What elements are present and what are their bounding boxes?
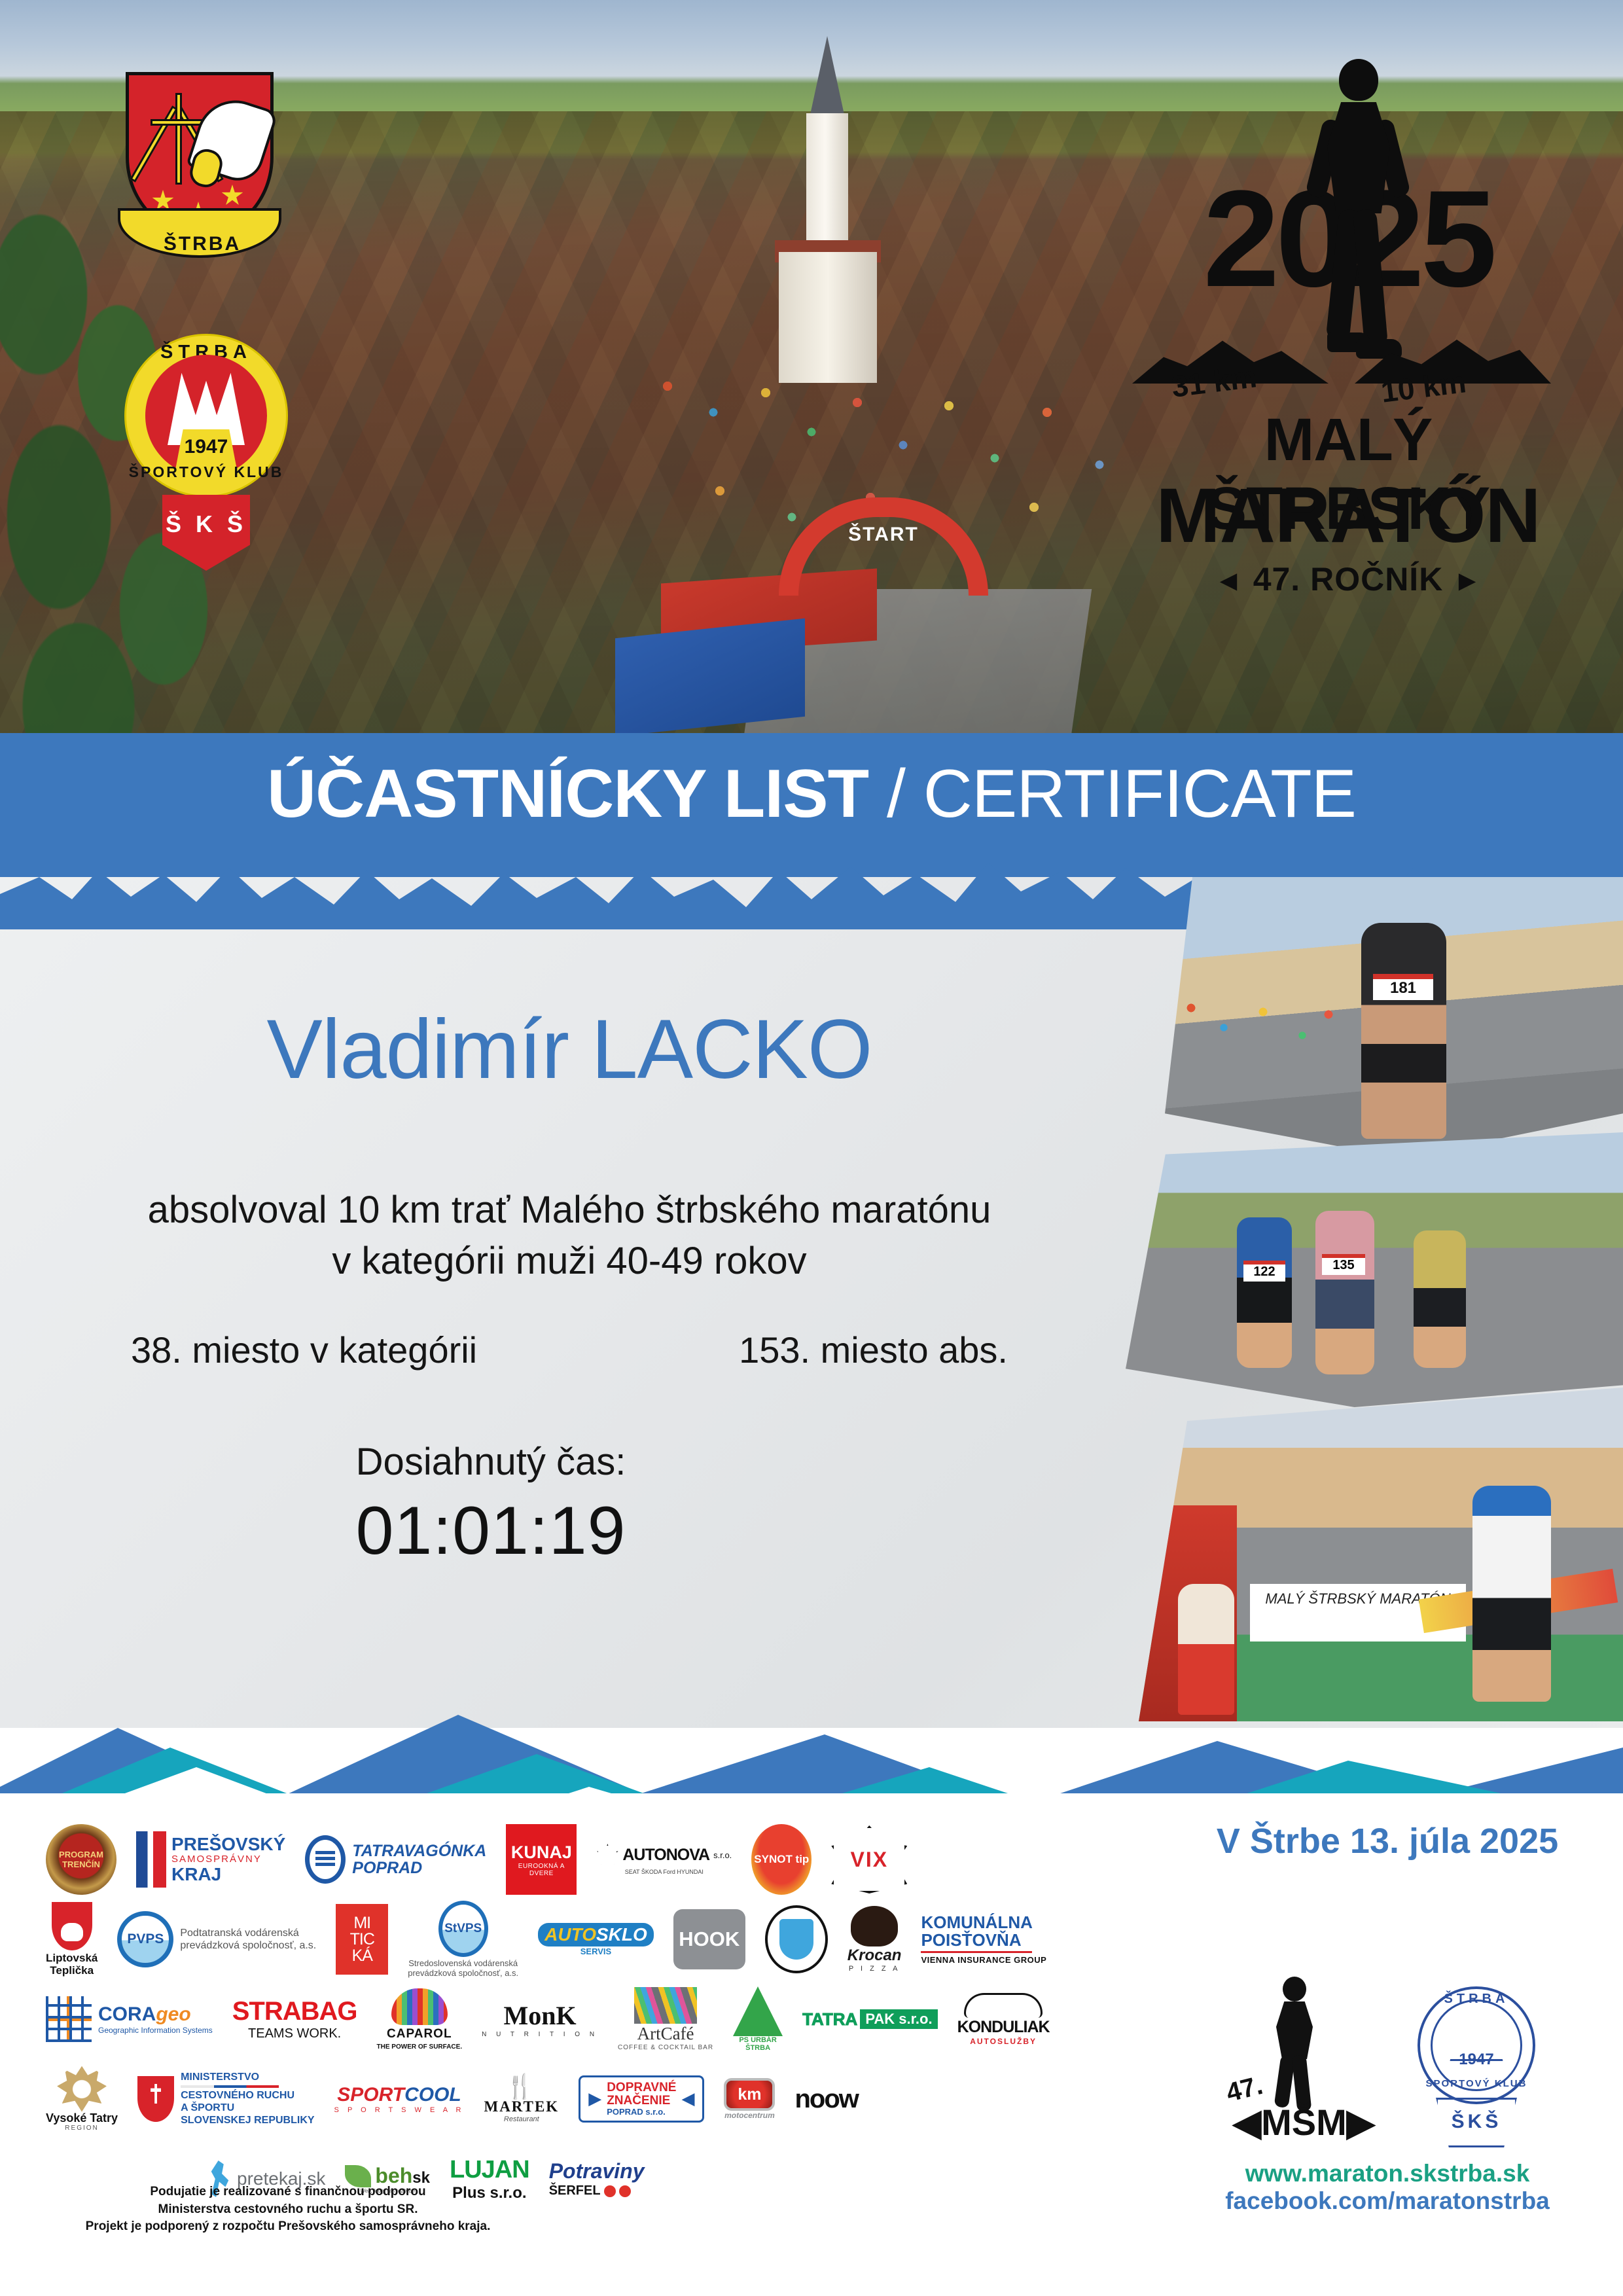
sponsor-label: POPRAD s.r.o. — [607, 2108, 676, 2117]
sponsor-row-1: PROGRAM TRENČÍN PREŠOVSKÝ SAMOSPRÁVNY KR… — [46, 1820, 1152, 1899]
sponsor-label: ArtCafé — [637, 2024, 694, 2044]
sponsor-label: prevádzková spoločnosť, a.s. — [180, 1939, 316, 1952]
sponsor-label: MonK — [504, 2000, 577, 2031]
stamp-bottom-label: ŠPORTOVÝ KLUB — [1418, 2078, 1535, 2089]
sponsor-label: VIX — [831, 1825, 907, 1893]
strba-coat-of-arms: ŠTRBA — [118, 72, 281, 268]
sponsor-label: AUTONOVA — [622, 1846, 709, 1865]
sponsor-label: THE POWER OF SURFACE. — [377, 2043, 463, 2051]
water-drop-icon — [779, 1919, 813, 1960]
arrow-right-icon: ► — [1453, 565, 1482, 597]
sponsor-label: MINISTERSTVO — [181, 2072, 314, 2084]
sponsor-label: PAK s.r.o. — [860, 2009, 937, 2029]
sponsor-label: N U T R I T I O N — [482, 2031, 598, 2038]
sponsor-label: DOPRAVNÉ — [607, 2081, 676, 2094]
bib-number: 135 — [1322, 1258, 1365, 1273]
sponsor-label: Potraviny — [549, 2159, 645, 2183]
arrow-right-icon: ▶ — [588, 2089, 601, 2109]
turkey-icon — [851, 1906, 898, 1946]
start-label: ŠTART — [808, 524, 959, 546]
sponsor-label: SKLO — [596, 1924, 647, 1945]
sponsor-label: SAMOSPRÁVNY — [171, 1854, 285, 1865]
star-burst-icon — [596, 1844, 618, 1866]
place-absolute: 153. miesto abs. — [739, 1329, 1008, 1371]
sponsor-row-3: CORAgeo Geographic Information Systems S… — [46, 1979, 1152, 2059]
sponsor-artcafe: ArtCafé COFFEE & COCKTAIL BAR — [618, 1983, 713, 2055]
photo-runners-road: 122 135 — [1126, 1132, 1623, 1407]
race-edition: ◄ 47. ROČNÍK ► — [1119, 560, 1577, 598]
sks-official-stamp: ŠTRBA 1947 ŠPORTOVÝ KLUB ŠKŠ — [1400, 1973, 1551, 2150]
sponsor-label: Vysoké Tatry — [46, 2112, 118, 2125]
sponsor-label: A ŠPORTU — [181, 2102, 314, 2115]
photo-finisher: 181 — [1165, 877, 1623, 1158]
marathon-logo: 2025 31 km 10 km MALÝ ŠTRBSKÝ MARATÓN ◄ … — [1119, 39, 1577, 615]
elephant-icon — [391, 1988, 448, 2025]
slovak-coat-of-arms-icon — [137, 2076, 174, 2122]
sponsor-label: TEAMS WORK. — [248, 2026, 341, 2041]
cutlery-icon: 🍴 — [505, 2075, 537, 2098]
sponsor-label: STRABAG — [232, 1997, 357, 2026]
web-links: www.maraton.skstrba.sk facebook.com/mara… — [1178, 2160, 1597, 2215]
sponsor-label: S P O R T S W E A R — [334, 2106, 465, 2114]
sponsor-label: PREŠOVSKÝ — [171, 1835, 285, 1854]
sponsor-caparol: CAPAROL THE POWER OF SURFACE. — [377, 1983, 463, 2055]
dot-icon — [604, 2185, 616, 2197]
sponsor-label: AUTO — [544, 1924, 596, 1945]
sponsor-autosklo: AUTOSKLO SERVIS — [538, 1903, 654, 1975]
sponsor-ministerstvo: MINISTERSTVO CESTOVNÉHO RUCHU A ŠPORTU S… — [137, 2063, 314, 2135]
facebook-link[interactable]: facebook.com/maratonstrba — [1178, 2187, 1597, 2215]
sponsor-label: MARTEK — [484, 2098, 559, 2115]
club-year: 1947 — [145, 436, 267, 458]
sponsor-label: REGION — [65, 2125, 98, 2132]
sponsor-label: AUTOSLUŽBY — [970, 2037, 1037, 2046]
sponsor-grid: PROGRAM TRENČÍN PREŠOVSKÝ SAMOSPRÁVNY KR… — [46, 1820, 1152, 2225]
sponsor-synottip: SYNOT tip — [751, 1823, 811, 1895]
participant-description: absolvoval 10 km trať Malého štrbského m… — [0, 1185, 1139, 1287]
sponsor-label: geo — [156, 2003, 190, 2025]
sponsor-label: HOOK — [673, 1909, 745, 1969]
club-bottom-label: ŠPORTOVÝ KLUB — [124, 463, 288, 481]
sponsor-corageo: CORAgeo Geographic Information Systems — [46, 1983, 213, 2055]
grid-icon — [46, 1996, 92, 2042]
sponsor-label: Geographic Information Systems — [98, 2026, 213, 2035]
dot-icon — [619, 2185, 631, 2197]
tatravagonka-icon — [305, 1835, 346, 1884]
sponsor-label: CAPAROL — [387, 2027, 452, 2041]
coat-of-arms-icon — [52, 1902, 92, 1950]
bib-number: 181 — [1373, 979, 1433, 997]
banner-title-en: CERTIFICATE — [923, 756, 1356, 832]
sponsor-label: CORA — [98, 2003, 156, 2025]
car-icon — [964, 1993, 1043, 2018]
stamp-row: 47. ◀MŠM▶ ŠTRBA 1947 ŠPORTOVÝ KLUB ŠKŠ — [1178, 1964, 1597, 2160]
footer-right: V Štrbe 13. júla 2025 47. ◀MŠM▶ ŠTRBA 19… — [1178, 1813, 1597, 2245]
race-edition-label: 47. ROČNÍK — [1253, 561, 1444, 598]
footer: PROGRAM TRENČÍN PREŠOVSKÝ SAMOSPRÁVNY KR… — [0, 1793, 1623, 2296]
stamp-top-label: ŠTRBA — [1418, 1992, 1535, 2007]
sponsor-label: POPRAD — [352, 1859, 486, 1876]
description-line1: absolvoval 10 km trať Malého štrbského m… — [0, 1185, 1139, 1236]
stamp-abbr: ŠKŠ — [1436, 2111, 1517, 2133]
distance-row: 31 km 10 km — [1119, 327, 1577, 399]
sponsor-label: EUROOKNÁ A DVERE — [506, 1863, 577, 1877]
photo-collage: 181 122 135 MALÝ ŠTRBSKÝ MARATÓN — [1126, 877, 1623, 1721]
sponsor-label: TATRAVAGÓNKA — [352, 1842, 486, 1859]
sponsor-krocan-pizza: Krocan P I Z Z A — [847, 1903, 902, 1975]
sponsor-label: KUNAJ — [511, 1842, 572, 1863]
sponsor-label: ZNAČENIE — [607, 2094, 676, 2108]
sponsor-label: km — [724, 2078, 775, 2111]
blue-tent — [615, 619, 805, 736]
sks-club-logo: ŠTRBA 1947 ŠPORTOVÝ KLUB Š K Š — [111, 308, 301, 583]
funding-disclaimer: Podujatie je realizované s finančnou pod… — [39, 2183, 537, 2236]
sponsor-label: CESTOVNÉHO RUCHU — [181, 2090, 314, 2102]
sponsor-label: StVPS — [438, 1901, 488, 1957]
sponsor-label: KÁ — [352, 1948, 372, 1964]
description-line2: v kategórii muži 40-49 rokov — [0, 1236, 1139, 1287]
sponsor-liptovska-teplicka: Liptovská Teplička — [46, 1903, 98, 1975]
arrow-left-icon: ◀ — [681, 2089, 694, 2109]
sponsor-label: COOL — [404, 2084, 461, 2106]
sponsor-label: motocentrum — [724, 2111, 775, 2120]
sponsor-label: TRENČÍN — [62, 1859, 100, 1869]
sponsor-label: noow — [794, 2085, 857, 2114]
sponsor-label: ŠERFEL — [549, 2183, 601, 2198]
sponsor-martek: 🍴 MARTEK Restaurant — [484, 2063, 559, 2135]
sponsor-label: Liptovská — [46, 1952, 98, 1965]
banner-title-sep: / — [868, 756, 923, 832]
runner-icon — [1315, 59, 1400, 360]
flag-icon — [136, 1831, 166, 1888]
photo-finish-line: MALÝ ŠTRBSKÝ MARATÓN — [1139, 1388, 1623, 1721]
sponsor-label: TATRA — [802, 2009, 857, 2030]
sponsor-pvps: PVPS Podtatranská vodárenská prevádzková… — [117, 1903, 316, 1975]
sponsor-label: SYNOT tip — [751, 1824, 811, 1895]
disclaimer-line3: Projekt je podporený z rozpočtu Prešovsk… — [39, 2218, 537, 2236]
time-value: 01:01:19 — [0, 1492, 982, 1570]
msm-logo: 47. ◀MŠM▶ — [1224, 1977, 1355, 2147]
race-title-line2: MARATÓN — [1119, 471, 1577, 560]
arrow-left-icon: ◄ — [1214, 565, 1243, 597]
sponsor-label: Stredoslovenská vodárenská — [408, 1959, 518, 1969]
sponsor-autonova: AUTONOVA s.r.o. SEAT ŠKODA Ford HYUNDAI — [596, 1823, 732, 1895]
msm-abbr: ◀MŠM▶ — [1233, 2101, 1375, 2144]
sponsor-label: POISŤOVŇA — [921, 1931, 1021, 1949]
sponsor-kunaj: KUNAJ EUROOKNÁ A DVERE — [506, 1823, 577, 1895]
sponsor-potraviny-serfel: Potraviny ŠERFEL — [549, 2143, 645, 2215]
sponsor-label: Teplička — [46, 1965, 98, 1977]
club-abbr: Š K Š — [162, 511, 250, 538]
sponsor-stvps: StVPS Stredoslovenská vodárenská prevádz… — [408, 1903, 518, 1975]
sponsor-label: ŠTRBA — [739, 2044, 776, 2052]
sponsor-tatrapak: TATRA PAK s.r.o. — [802, 1983, 938, 2055]
participant-name: Vladimír LACKO — [0, 1001, 1139, 1098]
sponsor-label: PVPS — [117, 1911, 173, 1967]
sponsor-dopravne-znacenie: ▶ DOPRAVNÉ ZNAČENIE POPRAD s.r.o. ◀ — [579, 2063, 704, 2135]
sponsor-vysoke-tatry: Vysoké Tatry REGION — [46, 2063, 118, 2135]
sponsor-program-trencin: PROGRAM TRENČÍN — [46, 1823, 116, 1895]
sponsor-label: Restaurant — [504, 2115, 539, 2123]
banner-title-sk: ÚČASTNÍCKY LIST — [267, 756, 868, 832]
sponsor-label: KONDULIAK — [957, 2018, 1050, 2037]
sponsor-row-2: Liptovská Teplička PVPS Podtatranská vod… — [46, 1899, 1152, 1979]
disclaimer-line2: Ministerstva cestovného ruchu a športu S… — [39, 2201, 537, 2219]
sponsor-konduliak: KONDULIAK AUTOSLUŽBY — [957, 1983, 1050, 2055]
sponsor-label: VIENNA INSURANCE GROUP — [921, 1955, 1046, 1965]
sponsor-label: TIC — [350, 1931, 374, 1948]
sponsor-label: P I Z Z A — [849, 1965, 901, 1973]
sponsor-monk-nutrition: MonK N U T R I T I O N — [482, 1983, 598, 2055]
banner-title: ÚČASTNÍCKY LIST / CERTIFICATE — [0, 755, 1623, 833]
sponsor-komunalna-poistovna: KOMUNÁLNA POISŤOVŇA VIENNA INSURANCE GRO… — [921, 1903, 1046, 1975]
time-label: Dosiahnutý čas: — [0, 1440, 982, 1484]
sponsor-label: SEAT ŠKODA Ford HYUNDAI — [625, 1869, 704, 1875]
sponsor-label: SLOVENSKEJ REPUBLIKY — [181, 2115, 314, 2127]
edelweiss-icon — [57, 2066, 107, 2112]
church-building — [772, 36, 883, 376]
sponsor-label: s.r.o. — [713, 1850, 732, 1860]
sponsor-label: LUJAN — [450, 2156, 529, 2184]
sponsor-tatravagonka: TATRAVAGÓNKA POPRAD — [305, 1823, 486, 1895]
issue-date: V Štrbe 13. júla 2025 — [1178, 1821, 1597, 1861]
runner-icon — [1267, 1977, 1319, 2101]
sponsor-label: prevádzková spoločnosť, a.s. — [408, 1969, 518, 1979]
sponsor-label: COFFEE & COCKTAIL BAR — [618, 2044, 713, 2051]
sponsor-row-4: Vysoké Tatry REGION MINISTERSTVO CESTOVN… — [46, 2059, 1152, 2139]
staff-icon — [175, 93, 182, 185]
sponsor-presovsky-kraj: PREŠOVSKÝ SAMOSPRÁVNY KRAJ — [136, 1823, 285, 1895]
stamp-year: 1947 — [1431, 2051, 1522, 2069]
sponsor-label: Podtatranská vodárenská — [180, 1927, 316, 1939]
sponsor-label: SERVIS — [580, 1946, 611, 1956]
sponsor-label: MI — [353, 1915, 370, 1931]
sponsor-motocentrum: km motocentrum — [724, 2063, 775, 2135]
sponsor-label: Krocan — [847, 1946, 902, 1965]
sponsor-label: PROGRAM — [59, 1850, 103, 1859]
sponsor-miticka: MI TIC KÁ — [336, 1903, 388, 1975]
sponsor-strabag: STRABAG TEAMS WORK. — [232, 1983, 357, 2055]
placement-row: 38. miesto v kategórii 153. miesto abs. — [0, 1329, 1139, 1371]
sponsor-vix: VIX — [831, 1823, 907, 1895]
crest-label: ŠTRBA — [120, 233, 284, 255]
place-category: 38. miesto v kategórii — [131, 1329, 477, 1371]
sponsor-hook: HOOK — [673, 1903, 745, 1975]
sponsor-label: PS URBÁR — [739, 2036, 776, 2044]
sponsor-label: SPORT — [337, 2084, 404, 2106]
bib-number: 122 — [1243, 1265, 1285, 1280]
tree-icon — [733, 1986, 783, 2036]
sponsor-ps-urbar-strba: PS URBÁR ŠTRBA — [733, 1983, 783, 2055]
sponsor-label: KOMUNÁLNA — [921, 1914, 1032, 1931]
sponsor-sportcool: SPORTCOOL S P O R T S W E A R — [334, 2063, 465, 2135]
crest-ribbon: ŠTRBA — [118, 208, 281, 258]
sponsor-label: KRAJ — [171, 1865, 285, 1884]
disclaimer-line1: Podujatie je realizované s finančnou pod… — [39, 2183, 537, 2201]
website-link[interactable]: www.maraton.skstrba.sk — [1178, 2160, 1597, 2187]
artcafe-icon — [634, 1987, 697, 2024]
sponsor-noow: noow — [794, 2063, 857, 2135]
sponsor-pd-strba — [765, 1903, 828, 1975]
